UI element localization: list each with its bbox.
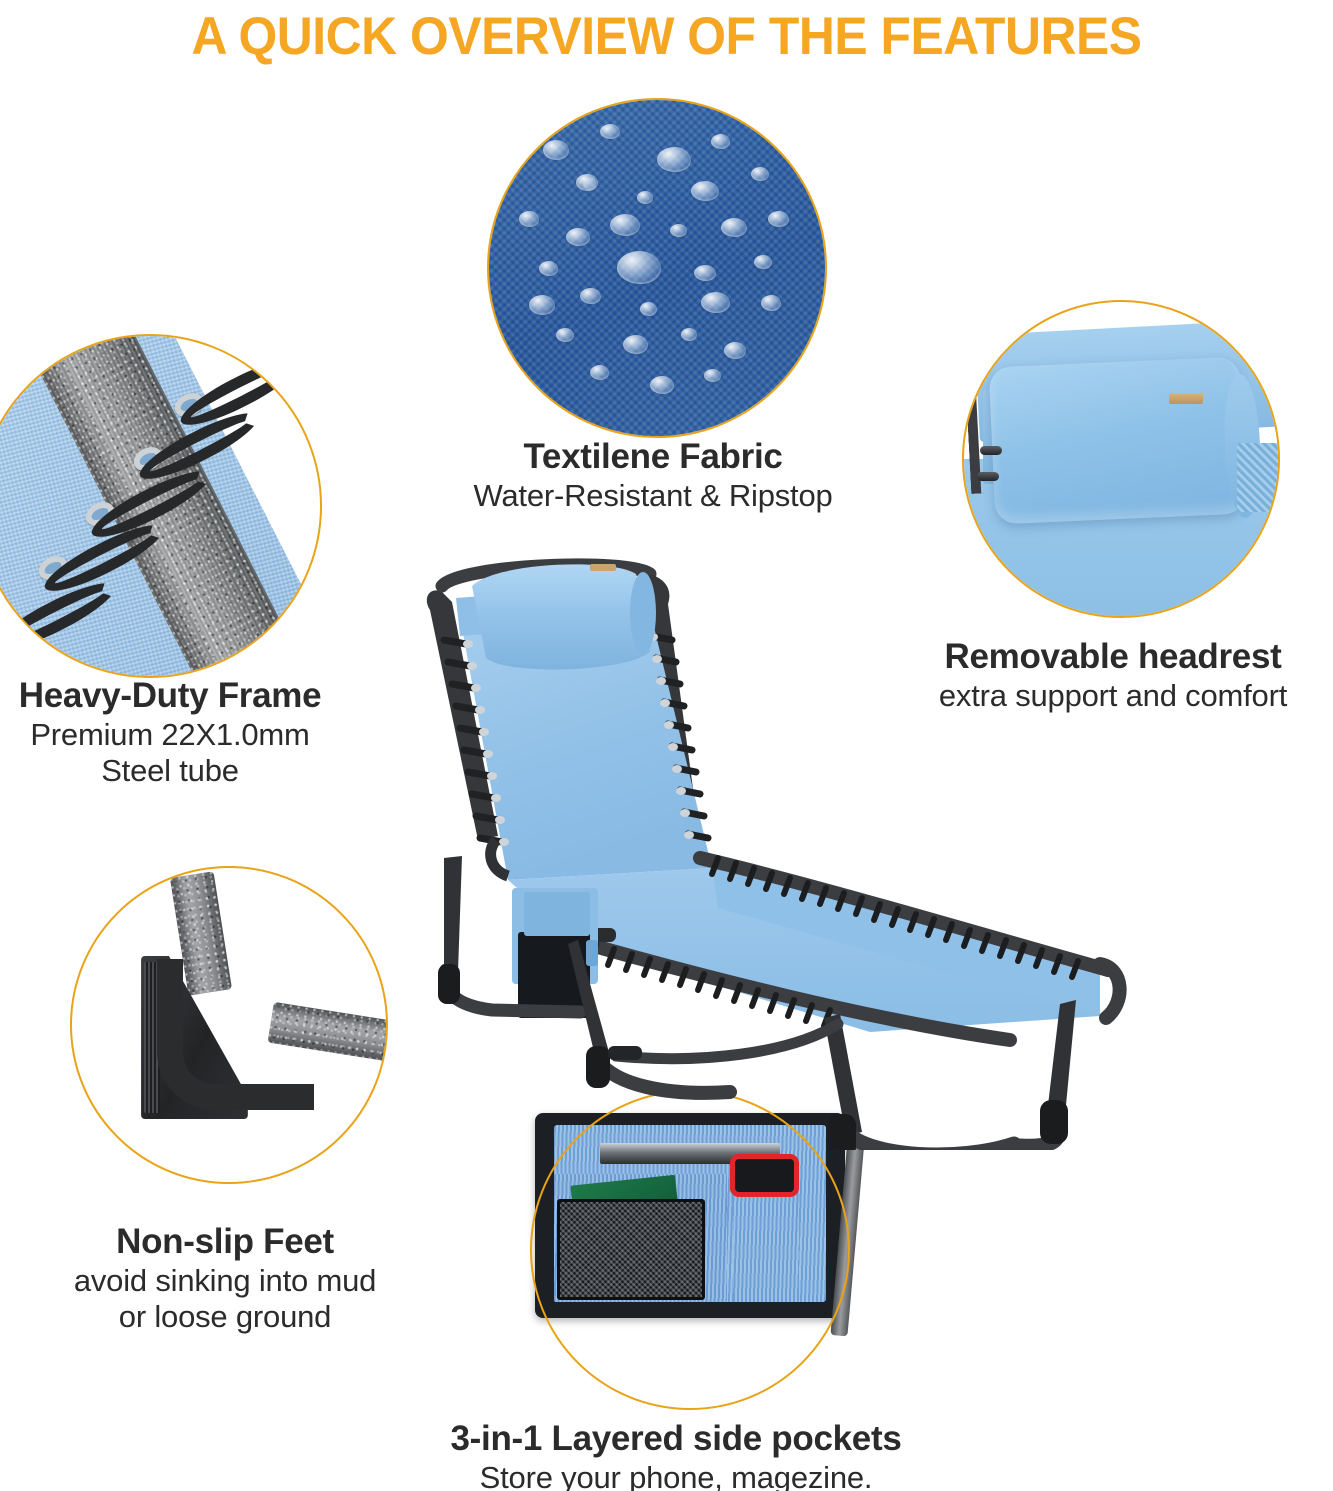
feature-subtext: Water-Resistant & Ripstop	[393, 478, 913, 514]
water-droplet	[657, 147, 691, 172]
feature-image-non-slip-feet	[70, 866, 388, 1184]
headrest-pillow	[472, 564, 650, 669]
side-pocket-tab	[586, 940, 598, 966]
rear-foot-bar	[846, 1132, 1014, 1150]
water-droplet	[637, 191, 653, 204]
brand-label-tag	[1169, 393, 1203, 404]
water-droplet	[610, 214, 640, 236]
feature-image-textilene-fabric	[487, 98, 827, 438]
water-droplet	[519, 211, 539, 227]
non-slip-foot-cap	[157, 959, 314, 1110]
leg-cross-brace	[616, 1024, 838, 1059]
water-droplet	[623, 335, 648, 354]
feature-subtext-line-2: Steel tube	[0, 753, 340, 789]
water-droplet	[600, 124, 620, 139]
frame-bolt	[980, 446, 1002, 455]
non-slip-foot	[1040, 1100, 1068, 1144]
water-droplet	[694, 265, 716, 281]
water-droplet	[566, 228, 590, 246]
feature-subtext: Store your phone, magezine.	[366, 1460, 986, 1491]
water-droplet	[711, 134, 730, 149]
water-droplet	[640, 302, 657, 316]
phone-red-case	[730, 1154, 798, 1197]
water-droplet	[704, 369, 721, 382]
headrest-pillow	[989, 356, 1247, 524]
water-droplet	[754, 255, 772, 269]
phone-pocket	[733, 1180, 798, 1301]
water-droplet	[617, 251, 661, 284]
water-droplet	[543, 140, 569, 160]
non-slip-foot	[586, 1046, 610, 1088]
headrest-label-tag	[590, 564, 616, 571]
feature-image-heavy-duty-frame	[0, 334, 322, 678]
water-droplet	[580, 288, 601, 304]
non-slip-foot	[438, 964, 460, 1004]
water-droplet	[650, 376, 674, 394]
product-image-chaise-lounge	[400, 540, 1150, 1150]
feature-subtext-line-1: Premium 22X1.0mm	[0, 717, 340, 753]
water-droplet	[751, 167, 769, 181]
water-droplet	[724, 342, 746, 359]
feature-caption-heavy-duty-frame: Heavy-Duty Frame Premium 22X1.0mm Steel …	[0, 676, 340, 789]
front-leg-upper	[444, 856, 462, 972]
mesh-pocket	[557, 1199, 706, 1300]
water-droplet	[691, 181, 719, 201]
feature-subtext-line-1: avoid sinking into mud	[15, 1263, 435, 1299]
feature-subtext-line-2: or loose ground	[15, 1299, 435, 1335]
water-droplet	[576, 174, 598, 191]
water-droplet	[721, 218, 747, 237]
side-pocket-front	[524, 892, 590, 936]
brace-joint	[608, 1046, 642, 1060]
feature-heading: Heavy-Duty Frame	[0, 676, 340, 717]
feature-overview-page: A QUICK OVERVIEW OF THE FEATURES	[0, 0, 1333, 1491]
headrest-pillow-end	[630, 572, 656, 654]
water-droplet	[761, 295, 781, 311]
water-droplet	[590, 365, 609, 380]
frame-bolt	[977, 472, 999, 481]
mesh-panel	[1237, 443, 1280, 512]
feature-caption-textilene-fabric: Textilene Fabric Water-Resistant & Ripst…	[393, 437, 913, 514]
water-droplet	[529, 295, 555, 315]
feature-heading: 3-in-1 Layered side pockets	[366, 1419, 986, 1460]
water-droplet	[768, 211, 789, 227]
water-droplet	[701, 292, 730, 313]
non-slip-foot	[828, 1114, 856, 1150]
feature-caption-side-pockets: 3-in-1 Layered side pockets Store your p…	[366, 1419, 986, 1491]
page-title: A QUICK OVERVIEW OF THE FEATURES	[40, 6, 1293, 67]
feature-heading: Textilene Fabric	[393, 437, 913, 478]
feature-heading: Non-slip Feet	[15, 1222, 435, 1263]
feature-caption-non-slip-feet: Non-slip Feet avoid sinking into mud or …	[15, 1222, 435, 1335]
